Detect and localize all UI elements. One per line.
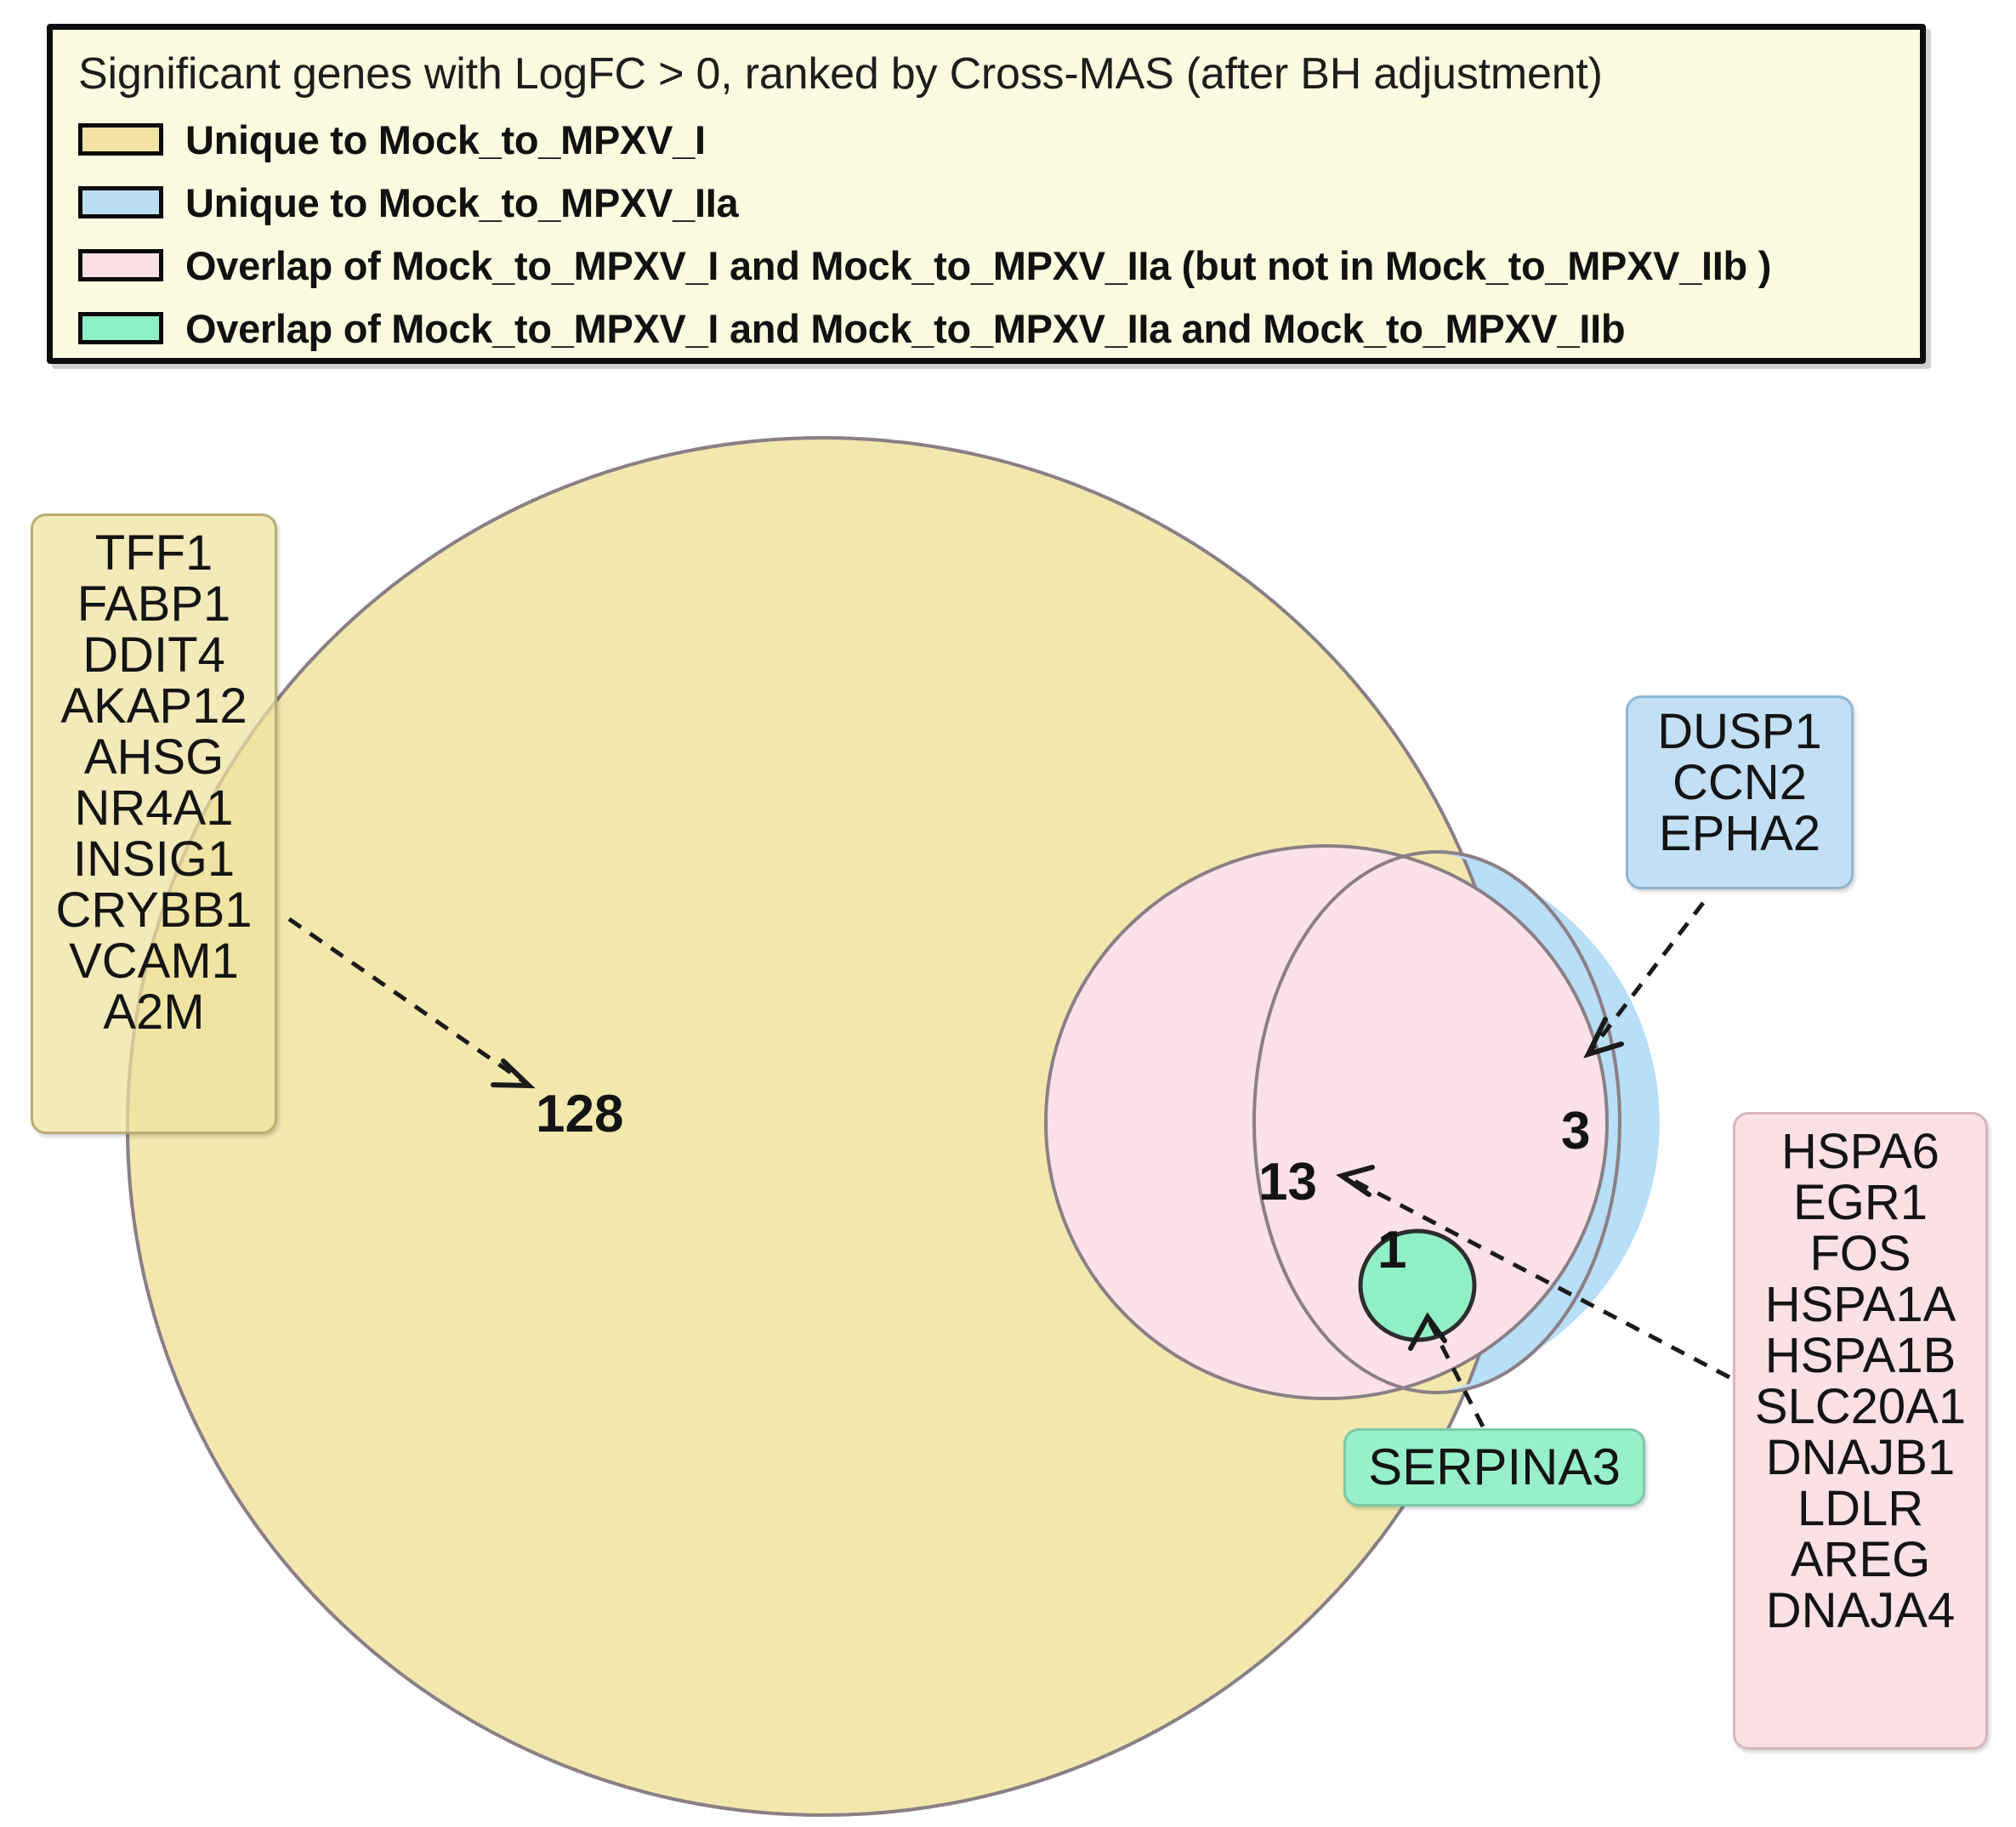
gene-item: AREG <box>1735 1535 1985 1586</box>
gene-item: CCN2 <box>1628 757 1851 809</box>
gene-item: HSPA1A <box>1735 1279 1985 1331</box>
legend-label-unique-IIa: Unique to Mock_to_MPXV_IIa <box>185 179 738 226</box>
legend-row-unique-IIa: Unique to Mock_to_MPXV_IIa <box>78 183 738 222</box>
gene-list-overlap-I-IIa: HSPA6 EGR1 FOS HSPA1A HSPA1B SLC20A1 DNA… <box>1733 1112 1988 1750</box>
legend-swatch-overlap-all <box>78 312 163 344</box>
legend-title: Significant genes with LogFC > 0, ranked… <box>78 48 1603 99</box>
gene-item: EGR1 <box>1735 1177 1985 1228</box>
legend-row-overlap-I-IIa: Overlap of Mock_to_MPXV_I and Mock_to_MP… <box>78 246 1771 285</box>
venn-circle-overlap-I-IIa <box>1046 846 1607 1399</box>
gene-item: DDIT4 <box>33 630 275 681</box>
gene-list-unique-IIa: DUSP1 CCN2 EPHA2 <box>1626 695 1854 889</box>
count-label-unique-I: 128 <box>536 1084 623 1144</box>
legend-swatch-unique-IIa <box>78 186 163 218</box>
gene-item: INSIG1 <box>33 834 275 885</box>
gene-item: SERPINA3 <box>1368 1441 1621 1494</box>
gene-item: TFF1 <box>33 528 275 579</box>
legend-swatch-overlap-I-IIa <box>78 249 163 281</box>
gene-item: CRYBB1 <box>33 885 275 936</box>
legend-row-unique-I: Unique to Mock_to_MPXV_I <box>78 120 706 159</box>
gene-item: NR4A1 <box>33 783 275 834</box>
gene-item: DNAJB1 <box>1735 1433 1985 1484</box>
gene-item: AKAP12 <box>33 681 275 732</box>
legend-label-overlap-I-IIa: Overlap of Mock_to_MPXV_I and Mock_to_MP… <box>185 242 1771 289</box>
gene-item: A2M <box>33 987 275 1038</box>
legend-swatch-unique-I <box>78 123 163 156</box>
gene-item: DUSP1 <box>1628 706 1851 757</box>
gene-list-unique-I: TFF1 FABP1 DDIT4 AKAP12 AHSG NR4A1 INSIG… <box>31 513 277 1134</box>
gene-item: AHSG <box>33 732 275 783</box>
gene-item: HSPA6 <box>1735 1126 1985 1177</box>
legend-label-overlap-all: Overlap of Mock_to_MPXV_I and Mock_to_MP… <box>185 305 1625 352</box>
gene-item: LDLR <box>1735 1484 1985 1535</box>
gene-item: HSPA1B <box>1735 1331 1985 1382</box>
count-label-unique-IIa: 3 <box>1561 1101 1590 1161</box>
gene-item: DNAJA4 <box>1735 1586 1985 1637</box>
gene-item: VCAM1 <box>33 936 275 987</box>
legend: Significant genes with LogFC > 0, ranked… <box>47 24 1926 364</box>
gene-item: EPHA2 <box>1628 809 1851 860</box>
count-label-overlap-all: 1 <box>1377 1220 1406 1280</box>
legend-row-overlap-all: Overlap of Mock_to_MPXV_I and Mock_to_MP… <box>78 309 1625 348</box>
gene-item: SLC20A1 <box>1735 1382 1985 1433</box>
count-label-overlap-I-IIa: 13 <box>1258 1152 1317 1212</box>
gene-list-overlap-all: SERPINA3 <box>1343 1428 1645 1506</box>
gene-item: FOS <box>1735 1228 1985 1279</box>
gene-item: FABP1 <box>33 579 275 630</box>
legend-label-unique-I: Unique to Mock_to_MPXV_I <box>185 116 706 163</box>
